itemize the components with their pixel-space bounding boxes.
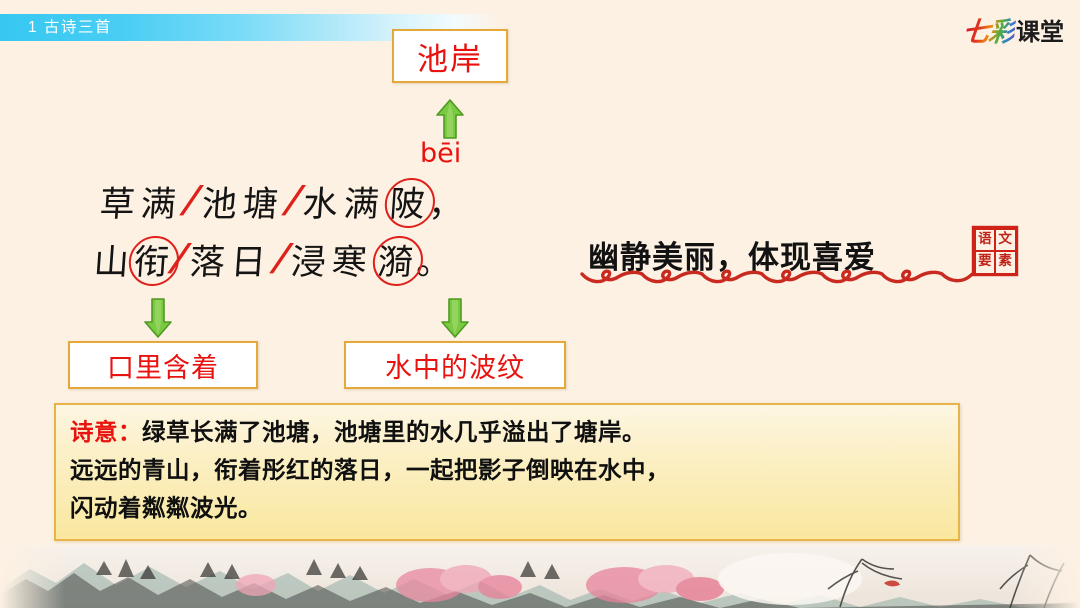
poem-seg-4: 山 xyxy=(90,234,133,285)
poem-line-1: 草满 / 池塘 / 水满 陂 ， xyxy=(98,172,463,230)
poem-seg-5: 落日 xyxy=(186,234,276,285)
explanation-line-1: 诗意：绿草长满了池塘，池塘里的水几乎溢出了塘岸。 xyxy=(70,413,944,451)
seal-char-3: 要 xyxy=(976,252,995,273)
poem-seg-6: 浸寒 xyxy=(287,234,377,285)
explanation-line-3: 闪动着粼粼波光。 xyxy=(70,489,944,527)
poem-circled-char-bei: 陂 xyxy=(385,176,430,227)
decorative-ink-painting-banner xyxy=(0,545,1080,608)
poem-seg-3: 水满 xyxy=(299,176,389,227)
poem-seg-1: 草满 xyxy=(96,176,186,227)
poem-circled-char-yi: 漪 xyxy=(373,234,418,285)
seal-char-1: 语 xyxy=(976,230,995,251)
poem-body: 草满 / 池塘 / 水满 陂 ， 山 衔 / 落日 / 浸寒 漪 。 xyxy=(92,172,512,292)
up-arrow-icon xyxy=(435,98,465,140)
logo-cursive-text: 七彩 xyxy=(961,10,1017,49)
slide-canvas: 1 古诗三首 七彩 课堂 池岸 bēi 草满 / 池塘 / 水满 陂 ， 山 衔… xyxy=(0,0,1080,608)
red-wave-underline xyxy=(580,268,982,290)
seal-stamp-yuwen-yaosu: 语 文 要 素 xyxy=(972,226,1018,276)
brand-logo: 七彩 课堂 xyxy=(963,12,1064,46)
poem-circled-char-xian: 衔 xyxy=(129,234,174,285)
poem-line-2: 山 衔 / 落日 / 浸寒 漪 。 xyxy=(92,230,451,288)
poem-meaning-box: 诗意：绿草长满了池塘，池塘里的水几乎溢出了塘岸。 远远的青山，衔着彤红的落日，一… xyxy=(54,403,960,541)
seal-char-4: 素 xyxy=(996,252,1015,273)
seal-char-2: 文 xyxy=(996,230,1015,251)
annotation-box-water-ripples: 水中的波纹 xyxy=(344,341,566,389)
down-arrow-icon-left xyxy=(143,297,173,339)
annotation-box-pond-bank: 池岸 xyxy=(392,29,508,83)
poem-seg-2: 池塘 xyxy=(198,176,288,227)
down-arrow-icon-right xyxy=(440,297,470,339)
explanation-text-1: 绿草长满了池塘，池塘里的水几乎溢出了塘岸。 xyxy=(142,418,646,446)
explanation-line-2: 远远的青山，衔着彤红的落日，一起把影子倒映在水中， xyxy=(70,451,944,489)
pinyin-label-bei: bēi xyxy=(420,138,461,169)
page-title: 1 古诗三首 xyxy=(28,16,112,39)
logo-block-text: 课堂 xyxy=(1016,12,1064,47)
explanation-label: 诗意： xyxy=(70,418,142,446)
annotation-box-hold-in-mouth: 口里含着 xyxy=(68,341,258,389)
